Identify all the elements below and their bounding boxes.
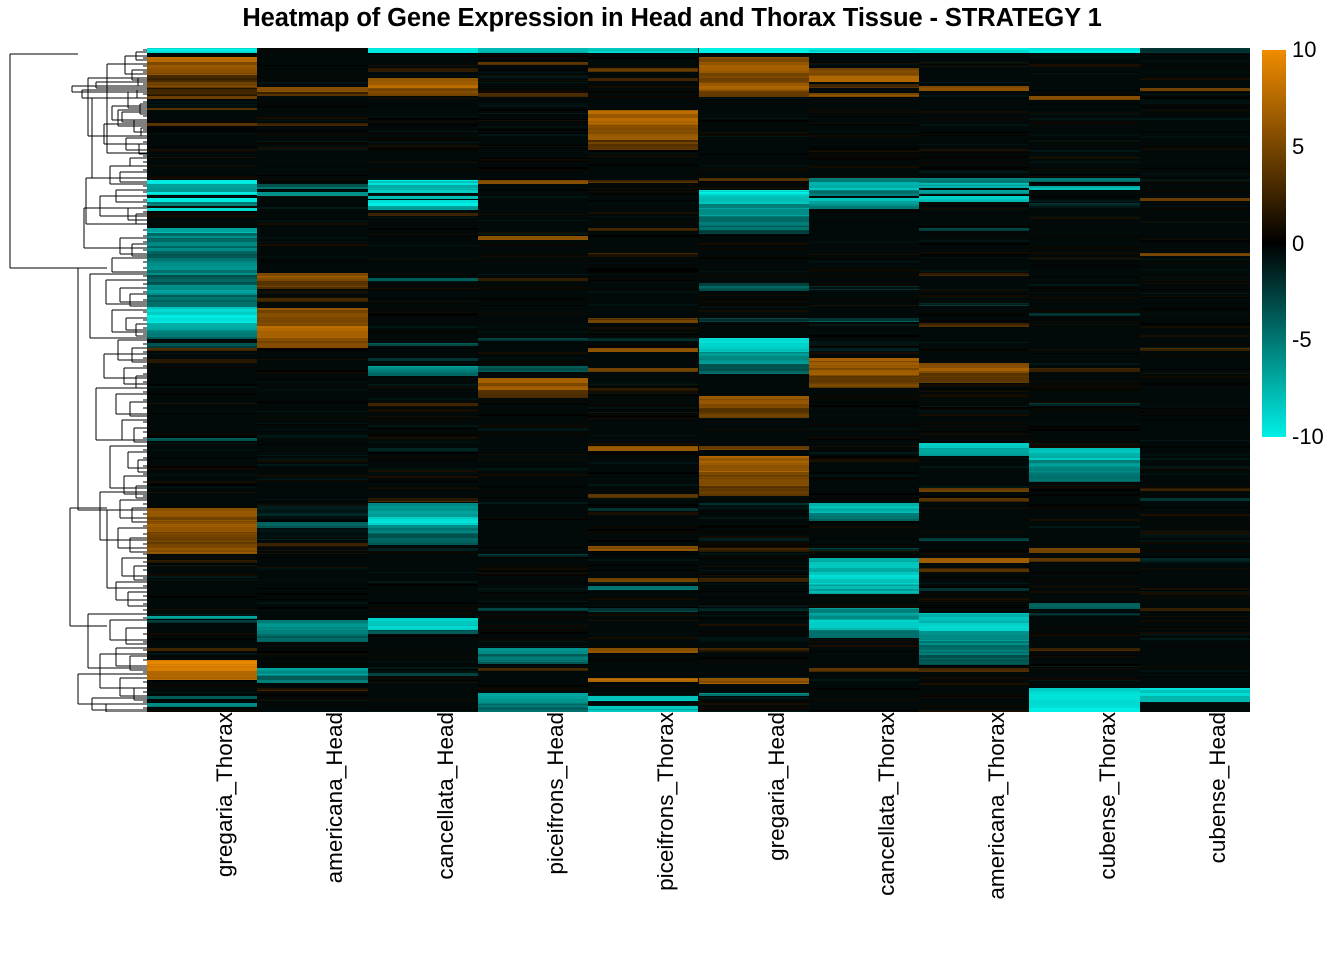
heatmap-cell-row	[147, 469, 257, 470]
heatmap-cell-row	[368, 346, 478, 348]
heatmap-cell-row	[478, 617, 588, 619]
heatmap-cell-row	[1140, 699, 1250, 702]
heatmap-cell-row	[1140, 222, 1250, 223]
heatmap-cell-row	[1140, 627, 1250, 628]
heatmap-cell-row	[368, 561, 478, 562]
heatmap-cell-row	[478, 454, 588, 455]
heatmap-cell-row	[147, 157, 257, 158]
heatmap-cell-row	[1140, 308, 1250, 310]
heatmap-cell-row	[478, 582, 588, 583]
heatmap-cell-row	[588, 330, 698, 332]
heatmap-cell-row	[699, 373, 809, 374]
heatmap-cell-row	[919, 193, 1029, 194]
heatmap-cell-row	[478, 305, 588, 306]
heatmap-cell-row	[1140, 540, 1250, 542]
heatmap-cell-row	[368, 403, 478, 406]
heatmap-cell-row	[368, 398, 478, 400]
heatmap-cell-row	[1140, 634, 1250, 635]
heatmap-cell-row	[1140, 177, 1250, 179]
heatmap-cell-row	[257, 641, 367, 642]
heatmap-cell-row	[147, 362, 257, 363]
heatmap-cell-row	[699, 257, 809, 259]
heatmap-cell-row	[919, 607, 1029, 608]
heatmap-cell-row	[478, 470, 588, 471]
heatmap-cell-row	[478, 492, 588, 493]
heatmap-cell-row	[257, 187, 367, 189]
heatmap-cell-row	[147, 439, 257, 441]
heatmap-cell-row	[699, 579, 809, 582]
heatmap-cell-row	[809, 449, 919, 450]
heatmap-cell-row	[588, 512, 698, 513]
heatmap-cell-row	[809, 305, 919, 306]
heatmap-cell-row	[1029, 526, 1139, 528]
heatmap-cell-row	[919, 553, 1029, 555]
heatmap-cell-row	[368, 95, 478, 96]
heatmap-cell-row	[368, 452, 478, 454]
column-label-0: gregaria_Thorax	[213, 712, 237, 960]
heatmap-cell-row	[809, 389, 919, 390]
heatmap-cell-row	[257, 82, 367, 84]
heatmap-cell-row	[368, 487, 478, 488]
heatmap-cell-row	[1029, 519, 1139, 521]
heatmap-cell-row	[478, 682, 588, 684]
heatmap-cell-row	[588, 598, 698, 600]
heatmap-cell-row	[257, 418, 367, 419]
heatmap-cell-row	[257, 642, 367, 643]
heatmap-cell-row	[1029, 189, 1139, 190]
heatmap-cell-row	[147, 609, 257, 610]
heatmap-cell-row	[368, 288, 478, 289]
heatmap-cell-row	[588, 490, 698, 491]
heatmap-cell-row	[699, 517, 809, 519]
heatmap-cell-row	[919, 171, 1029, 173]
heatmap-cell-row	[257, 460, 367, 462]
heatmap-cell-row	[478, 629, 588, 631]
heatmap-cell-row	[588, 274, 698, 275]
heatmap-cell-row	[919, 594, 1029, 595]
heatmap-cell-row	[147, 337, 257, 339]
heatmap-cell-row	[809, 265, 919, 266]
heatmap-cell-row	[368, 631, 478, 634]
heatmap-cell-row	[1029, 232, 1139, 233]
heatmap-cell-row	[809, 405, 919, 407]
heatmap-cell-row	[919, 433, 1029, 435]
heatmap-cell-row	[919, 226, 1029, 227]
heatmap-cell-row	[147, 211, 257, 212]
heatmap-cell-row	[147, 413, 257, 414]
heatmap-cell-row	[368, 121, 478, 122]
heatmap-cell-row	[478, 69, 588, 70]
heatmap-cell-row	[368, 236, 478, 237]
heatmap-cell-row	[147, 618, 257, 619]
heatmap-cell-row	[147, 692, 257, 693]
heatmap-cell-row	[588, 542, 698, 544]
heatmap-cell-row	[699, 301, 809, 302]
heatmap-cell-row	[1140, 345, 1250, 346]
heatmap-cell-row	[147, 194, 257, 195]
heatmap-cell-row	[588, 553, 698, 555]
heatmap-cell-row	[588, 435, 698, 436]
heatmap-cell-row	[809, 538, 919, 539]
heatmap-cell-row	[478, 415, 588, 416]
heatmap-cell-row	[809, 254, 919, 255]
heatmap-cell-row	[1140, 283, 1250, 284]
heatmap-cell-row	[1029, 407, 1139, 408]
heatmap-cell-row	[809, 157, 919, 158]
heatmap-cell-row	[919, 208, 1029, 209]
heatmap-cell-row	[699, 310, 809, 312]
heatmap-cell-row	[1029, 109, 1139, 111]
heatmap-cell-row	[368, 228, 478, 230]
heatmap-cell-row	[478, 214, 588, 215]
heatmap-cell-row	[1140, 269, 1250, 271]
heatmap-cell-row	[1140, 297, 1250, 298]
heatmap-cell-row	[478, 565, 588, 567]
heatmap-cell-row	[809, 639, 919, 640]
heatmap-cell-row	[588, 191, 698, 192]
heatmap-cell-row	[368, 455, 478, 456]
heatmap-cell-row	[809, 169, 919, 171]
heatmap-cell-row	[588, 150, 698, 152]
heatmap-cell-row	[919, 531, 1029, 532]
heatmap-cell-row	[478, 189, 588, 191]
heatmap-cell-row	[368, 373, 478, 376]
heatmap-cell-row	[588, 371, 698, 372]
heatmap-cell-row	[478, 663, 588, 664]
heatmap-cell-row	[478, 588, 588, 590]
heatmap-cell-row	[809, 554, 919, 555]
heatmap-cell-row	[368, 665, 478, 667]
heatmap-cell-row	[588, 526, 698, 528]
heatmap-cell-row	[478, 474, 588, 476]
heatmap-cell-row	[699, 624, 809, 626]
heatmap-cell-row	[1029, 276, 1139, 278]
heatmap-cell-row	[809, 397, 919, 399]
heatmap-cell-row	[1140, 91, 1250, 92]
colorbar-gradient	[1262, 50, 1286, 437]
heatmap-cell-row	[1140, 289, 1250, 290]
heatmap-cell-row	[699, 449, 809, 450]
heatmap-cell-row	[588, 589, 698, 590]
heatmap-cell-row	[368, 362, 478, 364]
heatmap-cell-row	[919, 410, 1029, 412]
heatmap-cell-row	[1140, 550, 1250, 552]
heatmap-cell-row	[368, 669, 478, 670]
heatmap-cell-row	[809, 671, 919, 672]
heatmap-cell-row	[1140, 106, 1250, 108]
heatmap-cell-row	[368, 245, 478, 246]
heatmap-cell-row	[919, 550, 1029, 552]
heatmap-cell-row	[809, 217, 919, 219]
heatmap-cell-row	[919, 275, 1029, 276]
heatmap-cell-row	[368, 350, 478, 351]
heatmap-cell-row	[257, 701, 367, 702]
heatmap-cell-row	[1029, 310, 1139, 312]
heatmap-cell-row	[809, 683, 919, 685]
heatmap-cell-row	[919, 135, 1029, 136]
heatmap-cell-row	[699, 277, 809, 278]
heatmap-cell-row	[1029, 249, 1139, 251]
heatmap-cell-row	[809, 220, 919, 221]
heatmap-cell-row	[1140, 455, 1250, 456]
heatmap-column	[1140, 48, 1250, 712]
heatmap-cell-row	[919, 600, 1029, 602]
heatmap-cell-row	[478, 239, 588, 240]
heatmap-cell-row	[919, 305, 1029, 306]
heatmap-cell-row	[699, 330, 809, 331]
heatmap-cell-row	[588, 193, 698, 195]
heatmap-cell-row	[919, 391, 1029, 392]
heatmap-cell-row	[147, 655, 257, 656]
heatmap-cell-row	[257, 694, 367, 696]
heatmap-cell-row	[368, 376, 478, 378]
heatmap-cell-row	[919, 459, 1029, 460]
heatmap-cell-row	[1140, 468, 1250, 469]
heatmap-cell-row	[588, 333, 698, 335]
heatmap-cell-row	[809, 333, 919, 334]
heatmap-cell-row	[1140, 259, 1250, 260]
heatmap-cell-row	[368, 543, 478, 545]
heatmap-cell-row	[809, 335, 919, 337]
heatmap-cell-row	[147, 492, 257, 493]
heatmap-cell-row	[809, 111, 919, 113]
heatmap-cell-row	[588, 291, 698, 293]
heatmap-cell-row	[809, 194, 919, 196]
heatmap-cell-row	[1029, 635, 1139, 636]
heatmap-cell-row	[919, 394, 1029, 396]
heatmap-cell-row	[809, 131, 919, 132]
heatmap-cell-row	[699, 390, 809, 391]
heatmap-cell-row	[809, 549, 919, 551]
heatmap-cell-row	[699, 538, 809, 541]
heatmap-cell-row	[1029, 505, 1139, 507]
heatmap-cell-row	[257, 557, 367, 558]
heatmap-cell-row	[1140, 662, 1250, 663]
heatmap-cell-row	[1140, 214, 1250, 215]
heatmap-cell-row	[368, 427, 478, 428]
heatmap-cell-row	[1029, 481, 1139, 482]
heatmap-cell-row	[368, 677, 478, 679]
heatmap-cell-row	[368, 437, 478, 439]
heatmap-cell-row	[257, 658, 367, 659]
heatmap-cell-row	[919, 95, 1029, 97]
heatmap-cell-row	[478, 555, 588, 557]
heatmap-cell-row	[1029, 656, 1139, 657]
heatmap-cell-row	[1029, 195, 1139, 196]
heatmap-cell-row	[1140, 241, 1250, 243]
heatmap-cell-row	[919, 252, 1029, 254]
heatmap-cell-row	[1140, 528, 1250, 529]
heatmap-cell-row	[368, 301, 478, 302]
heatmap-cell-row	[588, 61, 698, 62]
heatmap-cell-row	[588, 504, 698, 506]
heatmap-cell-row	[1140, 148, 1250, 150]
heatmap-cell-row	[919, 124, 1029, 126]
heatmap-cell-row	[1029, 441, 1139, 442]
heatmap-cell-row	[257, 242, 367, 243]
heatmap-cell-row	[257, 359, 367, 360]
heatmap-cell-row	[257, 223, 367, 225]
heatmap-cell-row	[919, 412, 1029, 413]
heatmap-cell-row	[478, 326, 588, 327]
heatmap-cell-row	[368, 635, 478, 637]
heatmap-cell-row	[257, 347, 367, 348]
heatmap-cell-row	[1140, 501, 1250, 503]
heatmap-cell-row	[478, 260, 588, 261]
heatmap-cell-row	[1140, 60, 1250, 62]
heatmap-cell-row	[919, 314, 1029, 316]
heatmap-cell-row	[1140, 369, 1250, 370]
heatmap-cell-row	[368, 196, 478, 199]
heatmap-cell-row	[809, 300, 919, 301]
heatmap-cell-row	[919, 144, 1029, 145]
heatmap-cell-row	[257, 423, 367, 424]
heatmap-cell-row	[368, 419, 478, 420]
heatmap-cell-row	[1029, 69, 1139, 71]
heatmap-cell-row	[588, 71, 698, 72]
heatmap-cell-row	[809, 520, 919, 521]
heatmap-cell-row	[809, 679, 919, 681]
heatmap-cell-row	[257, 607, 367, 609]
heatmap-cell-row	[1029, 287, 1139, 289]
heatmap-cell-row	[478, 161, 588, 162]
heatmap-cell-row	[257, 411, 367, 412]
heatmap-cell-row	[1029, 572, 1139, 574]
heatmap-cell-row	[478, 670, 588, 671]
heatmap-cell-row	[257, 244, 367, 246]
heatmap-cell-row	[809, 270, 919, 271]
colorbar-tick-1: 5	[1292, 134, 1304, 160]
heatmap-cell-row	[257, 120, 367, 121]
heatmap-cell-row	[588, 57, 698, 59]
heatmap-cell-row	[588, 633, 698, 634]
heatmap-cell-row	[699, 650, 809, 652]
heatmap-cell-row	[699, 610, 809, 611]
heatmap-cell-row	[257, 106, 367, 107]
heatmap-cell-row	[588, 453, 698, 455]
heatmap-cell-row	[257, 593, 367, 595]
heatmap-cell-row	[919, 431, 1029, 432]
heatmap-cell-row	[1140, 507, 1250, 508]
heatmap-cell-row	[478, 519, 588, 520]
heatmap-cell-row	[257, 142, 367, 144]
heatmap-cell-row	[588, 188, 698, 189]
heatmap-cell-row	[478, 371, 588, 372]
heatmap-cell-row	[699, 170, 809, 171]
heatmap-cell-row	[257, 455, 367, 456]
heatmap-cell-row	[257, 261, 367, 263]
heatmap-cell-row	[1140, 355, 1250, 356]
heatmap-cell-row	[1140, 672, 1250, 674]
heatmap-cell-row	[1029, 72, 1139, 73]
heatmap-cell-row	[699, 570, 809, 571]
heatmap-cell-row	[478, 146, 588, 147]
heatmap-cell-row	[478, 167, 588, 169]
heatmap-cell-row	[257, 682, 367, 683]
heatmap-cell-row	[919, 466, 1029, 468]
heatmap-cell-row	[1029, 154, 1139, 156]
heatmap-cell-row	[1140, 133, 1250, 135]
heatmap-cell-row	[588, 611, 698, 612]
heatmap-cell-row	[147, 158, 257, 159]
heatmap-cell-row	[809, 289, 919, 290]
heatmap-cell-row	[368, 607, 478, 609]
heatmap-cell-row	[478, 340, 588, 341]
heatmap-cell-row	[919, 455, 1029, 456]
heatmap-cell-row	[1140, 200, 1250, 201]
heatmap-cell-row	[478, 433, 588, 435]
heatmap-cell-row	[478, 397, 588, 398]
heatmap-cell-row	[588, 364, 698, 365]
heatmap-cell-row	[809, 293, 919, 295]
heatmap-cell-row	[1140, 537, 1250, 538]
heatmap-cell-row	[809, 409, 919, 410]
heatmap-cell-row	[588, 310, 698, 311]
heatmap-cell-row	[919, 243, 1029, 245]
heatmap-cell-row	[699, 118, 809, 119]
heatmap-cell-row	[257, 653, 367, 655]
heatmap-cell-row	[368, 589, 478, 591]
heatmap-grid	[147, 48, 1250, 712]
heatmap-cell-row	[1029, 627, 1139, 628]
heatmap-cell-row	[588, 320, 698, 323]
heatmap-cell-row	[809, 479, 919, 480]
heatmap-cell-row	[919, 290, 1029, 292]
heatmap-cell-row	[1029, 591, 1139, 593]
heatmap-cell-row	[1140, 542, 1250, 544]
heatmap-cell-row	[919, 490, 1029, 492]
heatmap-cell-row	[147, 638, 257, 640]
heatmap-cell-row	[1029, 122, 1139, 124]
heatmap-cell-row	[478, 400, 588, 401]
heatmap-cell-row	[368, 133, 478, 134]
heatmap-cell-row	[699, 591, 809, 592]
heatmap-cell-row	[588, 559, 698, 561]
heatmap-cell-row	[809, 343, 919, 345]
heatmap-cell-row	[919, 91, 1029, 92]
heatmap-cell-row	[257, 349, 367, 351]
heatmap-cell-row	[368, 75, 478, 76]
heatmap-cell-row	[478, 574, 588, 576]
heatmap-cell-row	[699, 707, 809, 709]
heatmap-cell-row	[809, 324, 919, 325]
heatmap-cell-row	[1029, 206, 1139, 208]
heatmap-cell-row	[147, 486, 257, 488]
heatmap-cell-row	[699, 289, 809, 291]
heatmap-cell-row	[588, 386, 698, 387]
heatmap-cell-row	[588, 216, 698, 217]
heatmap-cell-row	[1140, 481, 1250, 483]
heatmap-cell-row	[588, 570, 698, 571]
heatmap-cell-row	[809, 258, 919, 259]
heatmap-cell-row	[147, 386, 257, 388]
heatmap-cell-row	[257, 568, 367, 570]
heatmap-cell-row	[588, 390, 698, 391]
heatmap-cell-row	[368, 613, 478, 614]
heatmap-cell-row	[1140, 102, 1250, 104]
heatmap-cell-row	[478, 688, 588, 690]
heatmap-cell-row	[147, 109, 257, 110]
heatmap-cell-row	[368, 281, 478, 282]
heatmap-cell-row	[699, 417, 809, 418]
heatmap-cell-row	[809, 498, 919, 499]
heatmap-cell-row	[699, 154, 809, 155]
heatmap-cell-row	[919, 63, 1029, 64]
heatmap-cell-row	[919, 569, 1029, 572]
heatmap-cell-row	[147, 350, 257, 351]
heatmap-cell-row	[1029, 379, 1139, 381]
heatmap-cell-row	[919, 82, 1029, 83]
